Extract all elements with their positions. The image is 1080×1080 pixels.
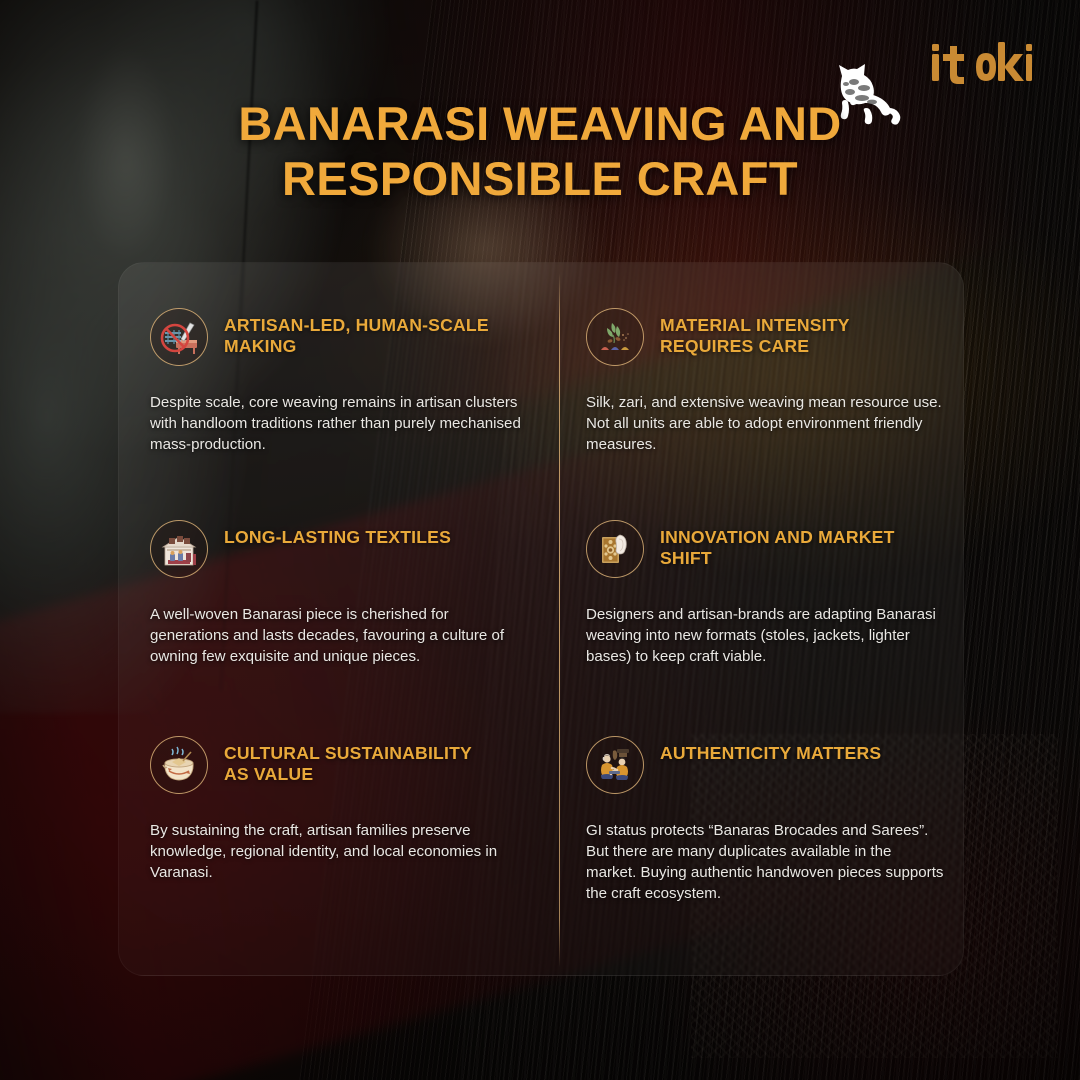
card-body: By sustaining the craft, artisan familie…	[150, 820, 524, 883]
insight-card: MATERIAL INTENSITY REQUIRES CARE Silk, z…	[558, 262, 964, 474]
card-header: ARTISAN-LED, HUMAN-SCALE MAKING	[150, 308, 524, 366]
card-title: MATERIAL INTENSITY REQUIRES CARE	[660, 308, 910, 358]
card-body: Despite scale, core weaving remains in a…	[150, 392, 524, 455]
card-header: MATERIAL INTENSITY REQUIRES CARE	[586, 308, 944, 366]
insight-card: LONG-LASTING TEXTILES A well-woven Banar…	[118, 474, 558, 690]
card-header: INNOVATION AND MARKET SHIFT	[586, 520, 944, 578]
two-seated-artisans-icon	[586, 736, 644, 794]
card-title: ARTISAN-LED, HUMAN-SCALE MAKING	[224, 308, 492, 358]
card-body: GI status protects “Banaras Brocades and…	[586, 820, 944, 905]
poster-header: BANARASI WEAVING AND RESPONSIBLE CRAFT	[0, 0, 1080, 255]
infographic-poster: BANARASI WEAVING AND RESPONSIBLE CRAFT	[0, 0, 1080, 1080]
card-header: CULTURAL SUSTAINABILITY AS VALUE	[150, 736, 524, 794]
card-body: Silk, zari, and extensive weaving mean r…	[586, 392, 944, 455]
insight-card: ARTISAN-LED, HUMAN-SCALE MAKING Despite …	[118, 262, 558, 474]
no-power-loom-icon	[150, 308, 208, 366]
page-title: BANARASI WEAVING AND RESPONSIBLE CRAFT	[0, 96, 1080, 207]
insight-card: CULTURAL SUSTAINABILITY AS VALUE By sust…	[118, 690, 558, 976]
card-body: A well-woven Banarasi piece is cherished…	[150, 604, 524, 667]
insight-card-grid: ARTISAN-LED, HUMAN-SCALE MAKING Despite …	[118, 262, 964, 976]
title-line-2: RESPONSIBLE CRAFT	[0, 151, 1080, 206]
card-title: CULTURAL SUSTAINABILITY AS VALUE	[224, 736, 492, 786]
craft-shop-stall-icon	[150, 520, 208, 578]
hand-holding-patterned-fabric-icon	[586, 520, 644, 578]
title-line-1: BANARASI WEAVING AND	[238, 97, 841, 150]
insight-card: INNOVATION AND MARKET SHIFT Designers an…	[558, 474, 964, 690]
insight-card: AUTHENTICITY MATTERS GI status protects …	[558, 690, 964, 976]
leaves-and-dye-powders-icon	[586, 308, 644, 366]
card-title: LONG-LASTING TEXTILES	[224, 520, 451, 548]
card-body: Designers and artisan-brands are adaptin…	[586, 604, 944, 667]
card-header: LONG-LASTING TEXTILES	[150, 520, 524, 578]
card-header: AUTHENTICITY MATTERS	[586, 736, 944, 794]
itokri-logo[interactable]	[930, 42, 1040, 84]
card-title: AUTHENTICITY MATTERS	[660, 736, 881, 764]
card-title: INNOVATION AND MARKET SHIFT	[660, 520, 910, 570]
steaming-dye-pot-icon	[150, 736, 208, 794]
